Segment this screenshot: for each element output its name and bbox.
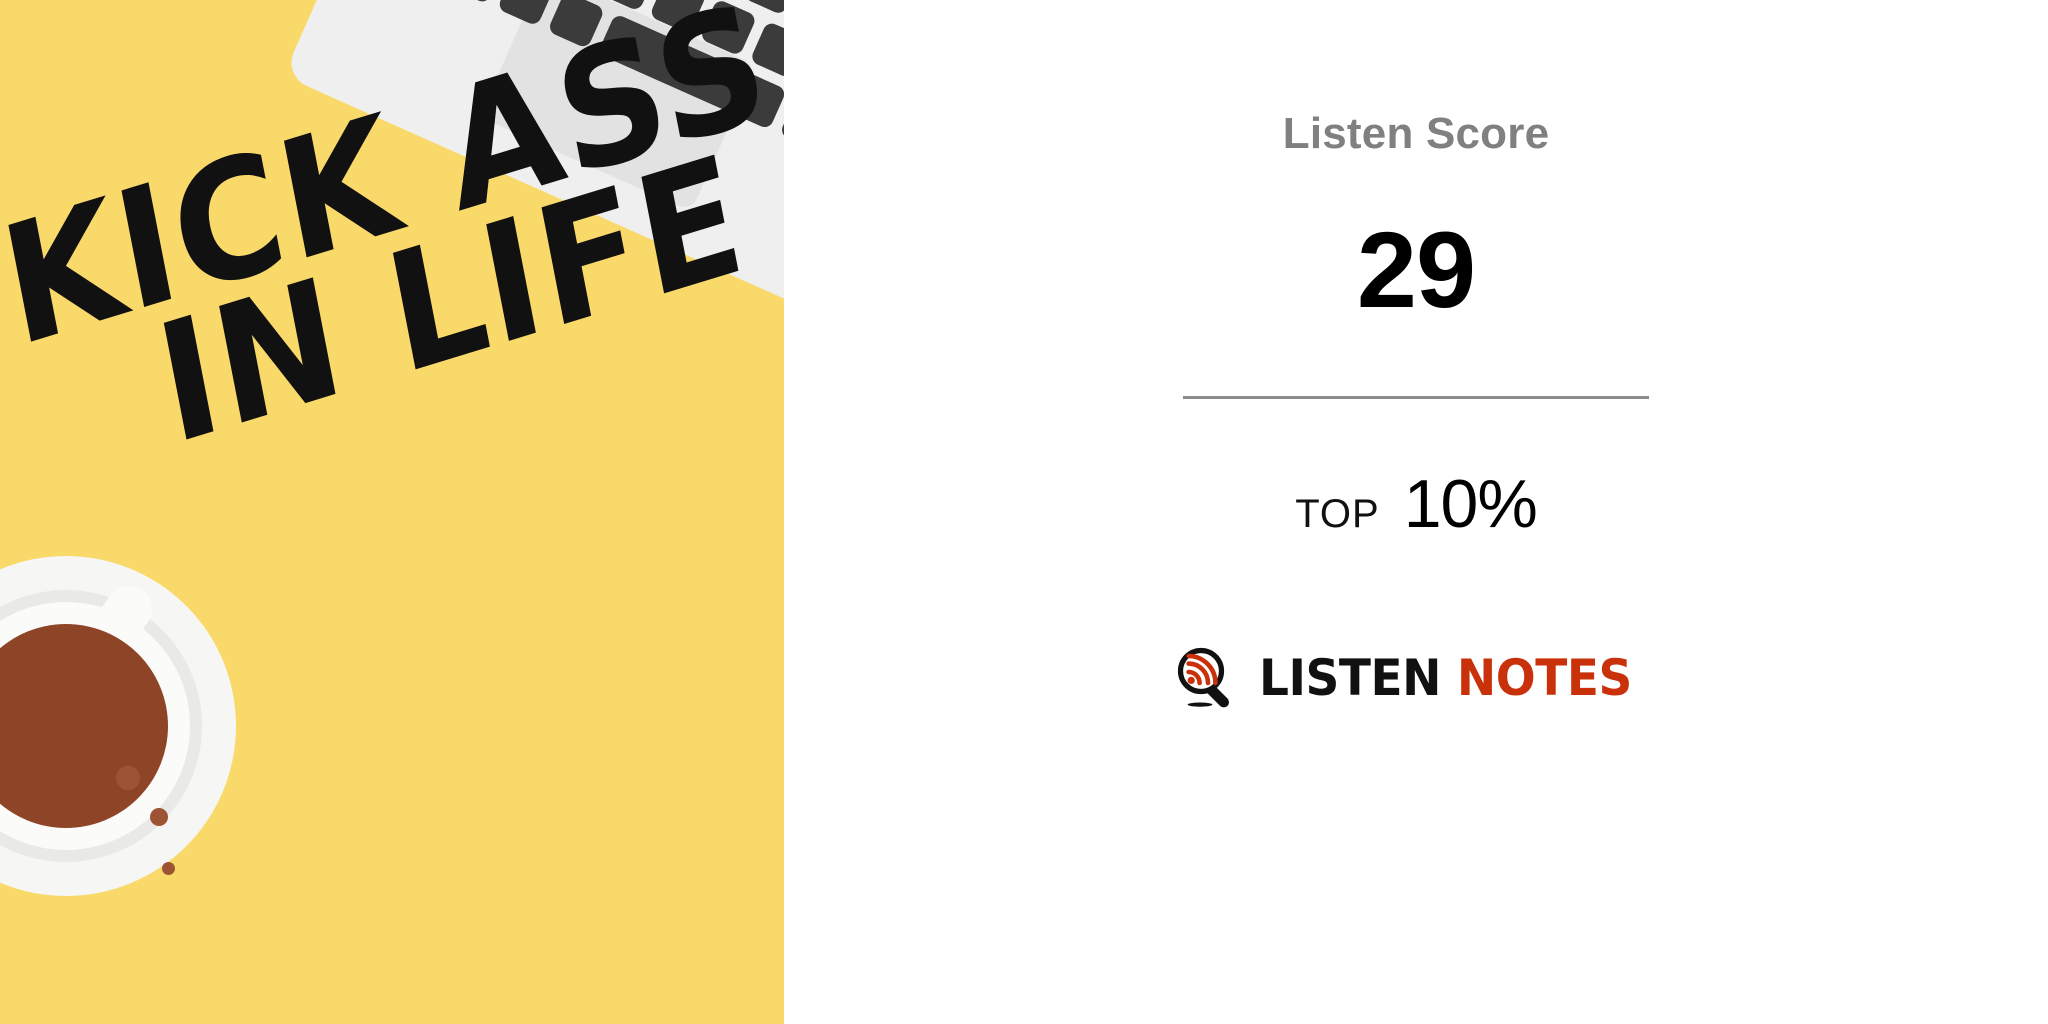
wordmark-notes: NOTES <box>1457 649 1632 707</box>
listen-notes-logo[interactable]: LISTEN NOTES <box>1177 647 1656 709</box>
wordmark-listen: LISTEN <box>1259 649 1441 707</box>
global-rank-label: TOP <box>1295 492 1380 537</box>
coffee-bubble <box>150 808 168 826</box>
magnifier-rss-icon <box>1177 647 1235 709</box>
global-rank-row: TOP 10% <box>1295 465 1537 543</box>
coffee-bubble <box>162 862 175 875</box>
score-divider <box>1183 396 1649 399</box>
coffee-bubble <box>116 766 140 790</box>
listen-notes-wordmark: LISTEN NOTES <box>1259 653 1632 703</box>
global-rank-value: 10% <box>1404 465 1537 543</box>
listen-score-screen: KICK ASS IN LIFE Listen Score 29 <box>0 0 2048 1024</box>
listen-score-value: 29 <box>1357 216 1475 324</box>
listen-score-panel: Listen Score 29 TOP 10% <box>784 0 2048 1024</box>
listen-score-title: Listen Score <box>1283 112 1550 156</box>
podcast-cover-art[interactable]: KICK ASS IN LIFE <box>0 0 784 1024</box>
cover-headline: KICK ASS IN LIFE <box>0 17 756 490</box>
coffee-cup-illustration <box>0 556 236 896</box>
